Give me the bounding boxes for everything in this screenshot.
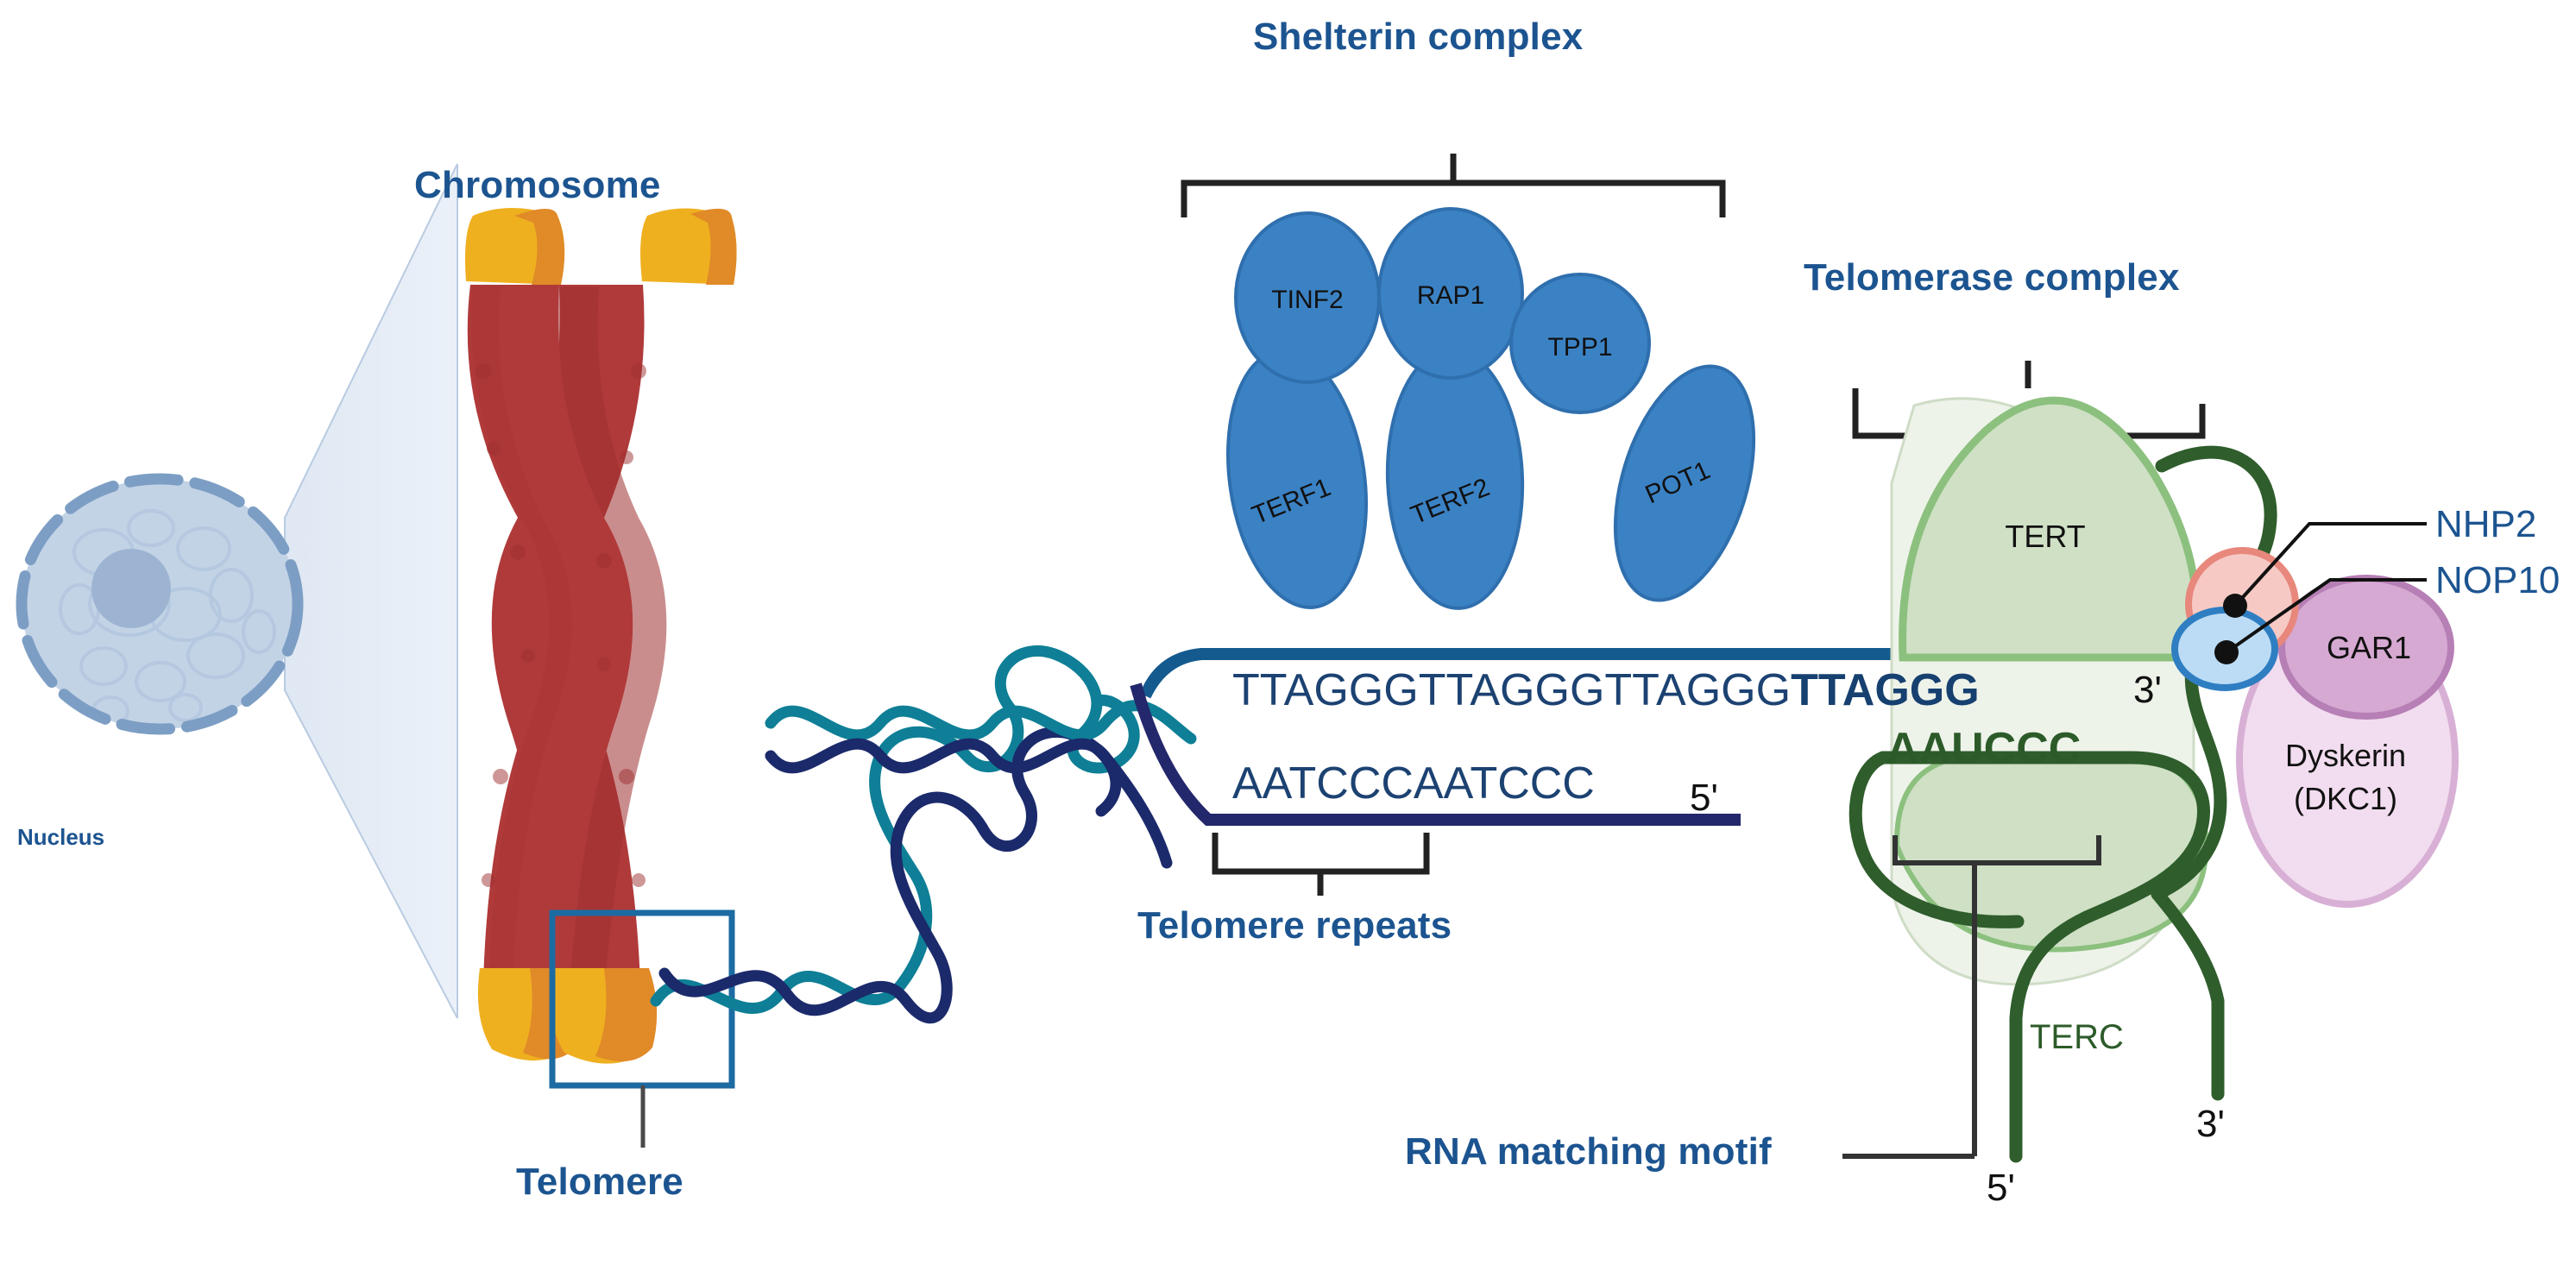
protein-label-tinf2: TINF2	[1271, 286, 1343, 314]
protein-label-dkc1-line1: Dyskerin	[2285, 738, 2406, 773]
label-telomere-repeats: Telomere repeats	[1137, 904, 1452, 947]
shelterin-complex: TINF2 RAP1 TPP1 TERF1 TERF2 POT1	[1212, 209, 1779, 617]
sequence-top-plain: TTAGGGTTAGGGTTAGGG	[1232, 665, 1791, 715]
diagram-artwork: TINF2 RAP1 TPP1 TERF1 TERF2 POT1	[0, 0, 2576, 1271]
label-rna-matching-motif: RNA matching motif	[1405, 1130, 1772, 1173]
protein-label-dkc1-line2: (DKC1)	[2294, 781, 2397, 816]
label-telomere: Telomere	[516, 1161, 683, 1204]
label-nop10: NOP10	[2435, 559, 2560, 602]
rna-template-sequence: AAUCCC	[1886, 723, 2081, 775]
diagram-canvas: TINF2 RAP1 TPP1 TERF1 TERF2 POT1	[0, 0, 2576, 1271]
nhp2-anchor-dot	[2223, 594, 2247, 618]
label-nhp2: NHP2	[2435, 503, 2536, 546]
title-shelterin-complex: Shelterin complex	[1253, 16, 1583, 59]
nucleus-illustration	[22, 479, 298, 729]
nop10-anchor-dot	[2214, 640, 2239, 664]
sequence-bottom-strand: AATCCCAATCCC	[1232, 758, 1595, 809]
terc-five-prime-label: 5'	[1987, 1167, 2015, 1210]
protein-label-gar1: GAR1	[2327, 630, 2411, 665]
label-nucleus: Nucleus	[17, 824, 104, 851]
protein-label-tert: TERT	[2005, 519, 2085, 554]
nucleolus	[91, 549, 171, 628]
title-chromosome: Chromosome	[414, 164, 661, 207]
sequence-top-bold: TTAGGG	[1791, 665, 1980, 715]
telomere-repeats-bracket	[1215, 833, 1427, 896]
protein-terf2	[1383, 347, 1527, 610]
sequence-top-strand: TTAGGGTTAGGGTTAGGGTTAGGG	[1232, 664, 1980, 716]
sequence-bottom-prime-label: 5'	[1690, 777, 1718, 820]
title-telomerase-complex: Telomerase complex	[1804, 256, 2180, 299]
label-terc: TERC	[2030, 1018, 2124, 1057]
protein-label-rap1: RAP1	[1417, 281, 1484, 310]
chromosome-illustration	[465, 208, 737, 1064]
protein-label-tpp1: TPP1	[1547, 333, 1612, 362]
terc-three-prime-label: 3'	[2196, 1103, 2225, 1146]
sequence-top-prime-label: 3'	[2133, 669, 2162, 712]
dna-helix	[656, 651, 1191, 1017]
zoom-wedge	[285, 164, 457, 1018]
